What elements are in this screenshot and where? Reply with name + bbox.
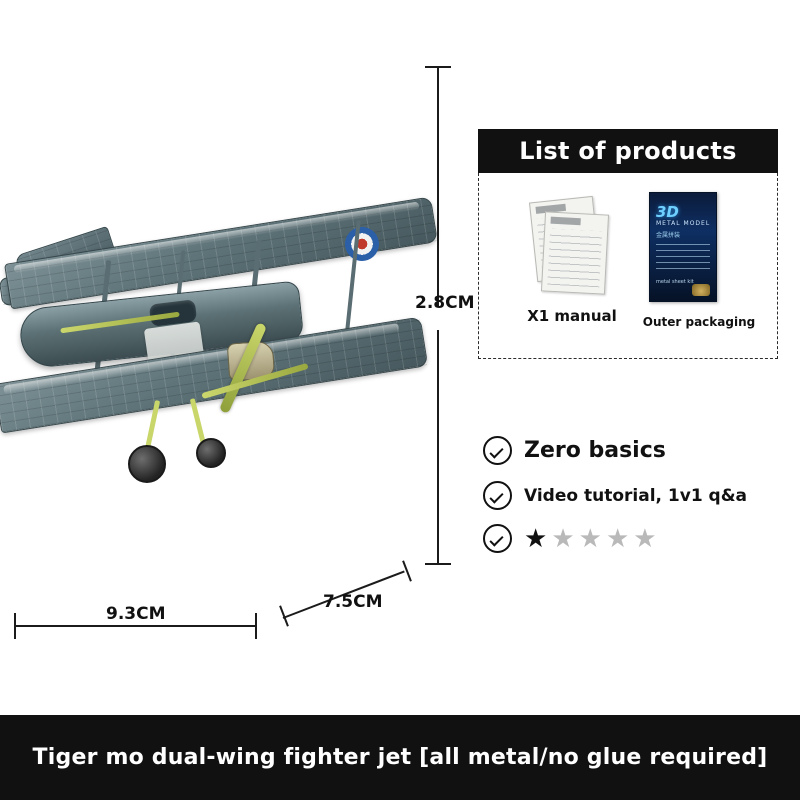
wheel — [196, 438, 226, 468]
manual-sheet-front — [541, 211, 609, 294]
packaging-logo-icon — [692, 284, 710, 296]
width-dim-tick-left — [14, 613, 16, 639]
height-dim-tick-top — [425, 66, 451, 68]
feature-video-tutorial-label: Video tutorial, 1v1 q&a — [524, 486, 747, 506]
width-dim-line — [14, 625, 257, 627]
height-dim-line — [437, 66, 439, 306]
width-dim-label: 9.3CM — [100, 604, 172, 624]
caption-bar: Tiger mo dual-wing fighter jet [all meta… — [0, 715, 800, 800]
packaging-foot-text: metal sheet kit — [656, 279, 694, 285]
manual-sheet-title — [551, 217, 581, 226]
star-empty-icon: ★ — [579, 524, 606, 554]
packaging-bullet-lines — [656, 243, 710, 269]
star-empty-icon: ★ — [551, 524, 578, 554]
caption-text: Tiger mo dual-wing fighter jet [all meta… — [33, 745, 768, 770]
depth-dim-label: 7.5CM — [323, 592, 383, 612]
manual-sheet-lines — [547, 229, 602, 288]
list-of-products-title: List of products — [478, 129, 778, 173]
biplane-model — [0, 120, 460, 640]
check-circle-icon — [483, 436, 512, 465]
feature-zero-basics: Zero basics — [483, 436, 666, 465]
height-dim-tick-bottom — [425, 563, 451, 565]
wheel — [128, 445, 166, 483]
outer-packaging-caption: Outer packaging — [629, 315, 769, 329]
star-empty-icon: ★ — [633, 524, 660, 554]
feature-zero-basics-label: Zero basics — [524, 438, 666, 463]
width-dim-tick-right — [255, 613, 257, 639]
list-of-products-box: List of products 3D METAL MODEL 金属拼装 met… — [478, 129, 778, 360]
model-photo — [0, 120, 460, 640]
feature-difficulty: ★★★★★ — [483, 524, 661, 553]
feature-video-tutorial: Video tutorial, 1v1 q&a — [483, 481, 747, 510]
star-empty-icon: ★ — [606, 524, 633, 554]
manual-image — [533, 199, 611, 291]
packaging-sub-text: METAL MODEL — [656, 220, 710, 227]
product-image: 2.8CM 7.5CM 9.3CM List of products 3D — [0, 0, 800, 800]
packaging-cn-text: 金属拼装 — [656, 230, 680, 239]
check-circle-icon — [483, 524, 512, 553]
difficulty-stars: ★★★★★ — [524, 526, 661, 552]
check-circle-icon — [483, 481, 512, 510]
star-filled-icon: ★ — [524, 524, 551, 554]
outer-packaging-image: 3D METAL MODEL 金属拼装 metal sheet kit — [649, 192, 717, 302]
height-dim-line-lower — [437, 330, 439, 565]
height-dim-label: 2.8CM — [415, 293, 475, 313]
list-of-products-body: 3D METAL MODEL 金属拼装 metal sheet kit X1 m… — [478, 173, 778, 359]
manual-caption: X1 manual — [507, 307, 637, 325]
packaging-3d-text: 3D — [656, 203, 679, 221]
